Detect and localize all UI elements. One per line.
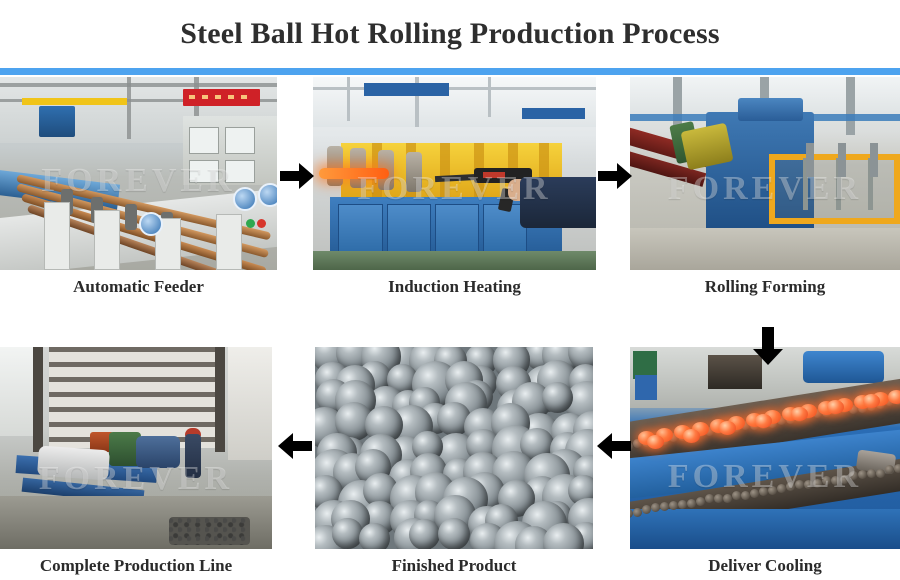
chain-link — [660, 502, 669, 511]
arrow-cooling-to-finished — [597, 433, 631, 459]
photo-finished-product — [315, 347, 593, 549]
step-deliver-cooling: FOREVER Deliver Cooling — [630, 347, 900, 576]
hot-steel-ball — [683, 429, 700, 443]
steel-ball — [332, 518, 362, 548]
process-infographic: Steel Ball Hot Rolling Production Proces… — [0, 0, 900, 580]
chain-link — [786, 482, 795, 491]
step-induction-heating: FOREVER Induction Heating — [313, 77, 596, 297]
hot-steel-ball — [755, 414, 772, 428]
chain-link — [858, 470, 867, 479]
photo-deliver-cooling: FOREVER — [630, 347, 900, 549]
hot-steel-ball — [888, 390, 900, 404]
step-rolling-forming: FOREVER Rolling Forming — [630, 77, 900, 297]
header: Steel Ball Hot Rolling Production Proces… — [0, 0, 900, 68]
chain-link — [768, 486, 777, 495]
step-automatic-feeder: FOREVER Automatic Feeder — [0, 77, 277, 297]
chain-link — [795, 480, 804, 489]
chain-link — [894, 464, 900, 473]
steel-ball — [409, 519, 440, 549]
arrow-rolling-to-cooling — [753, 327, 783, 365]
chain-link — [750, 489, 759, 498]
chain-link — [642, 505, 651, 514]
chain-link — [777, 484, 786, 493]
chain-link — [840, 475, 849, 484]
photo-complete-production-line: FOREVER — [0, 347, 272, 549]
caption-rolling-forming: Rolling Forming — [630, 277, 900, 297]
chain-link — [741, 491, 750, 500]
page-title: Steel Ball Hot Rolling Production Proces… — [180, 17, 720, 51]
arrow-finished-to-line — [278, 433, 312, 459]
header-divider — [0, 68, 900, 75]
hot-steel-ball — [827, 400, 844, 414]
arrow-heating-to-rolling — [598, 163, 632, 189]
steel-ball — [359, 523, 390, 549]
chain-link — [633, 508, 642, 517]
step-finished-product: Finished Product — [315, 347, 593, 576]
hot-steel-ball — [647, 435, 664, 449]
steel-ball — [542, 382, 573, 413]
caption-complete-production-line: Complete Production Line — [0, 556, 272, 576]
steel-ball — [438, 518, 470, 549]
step-complete-production-line: FOREVER Complete Production Line — [0, 347, 272, 576]
caption-automatic-feeder: Automatic Feeder — [0, 277, 277, 297]
chain-link — [732, 491, 741, 500]
chain-link — [678, 500, 687, 509]
caption-induction-heating: Induction Heating — [313, 277, 596, 297]
chain-link — [723, 494, 732, 503]
hot-steel-ball — [719, 421, 736, 435]
photo-induction-heating: FOREVER — [313, 77, 596, 270]
hot-steel-ball — [791, 407, 808, 421]
photo-automatic-feeder: FOREVER — [0, 77, 277, 270]
photo-rolling-forming: FOREVER — [630, 77, 900, 270]
chain-link — [687, 499, 696, 508]
arrow-feeder-to-heating — [280, 163, 314, 189]
caption-finished-product: Finished Product — [315, 556, 593, 576]
hot-steel-ball — [863, 394, 880, 408]
caption-deliver-cooling: Deliver Cooling — [630, 556, 900, 576]
chain-link — [714, 494, 723, 503]
